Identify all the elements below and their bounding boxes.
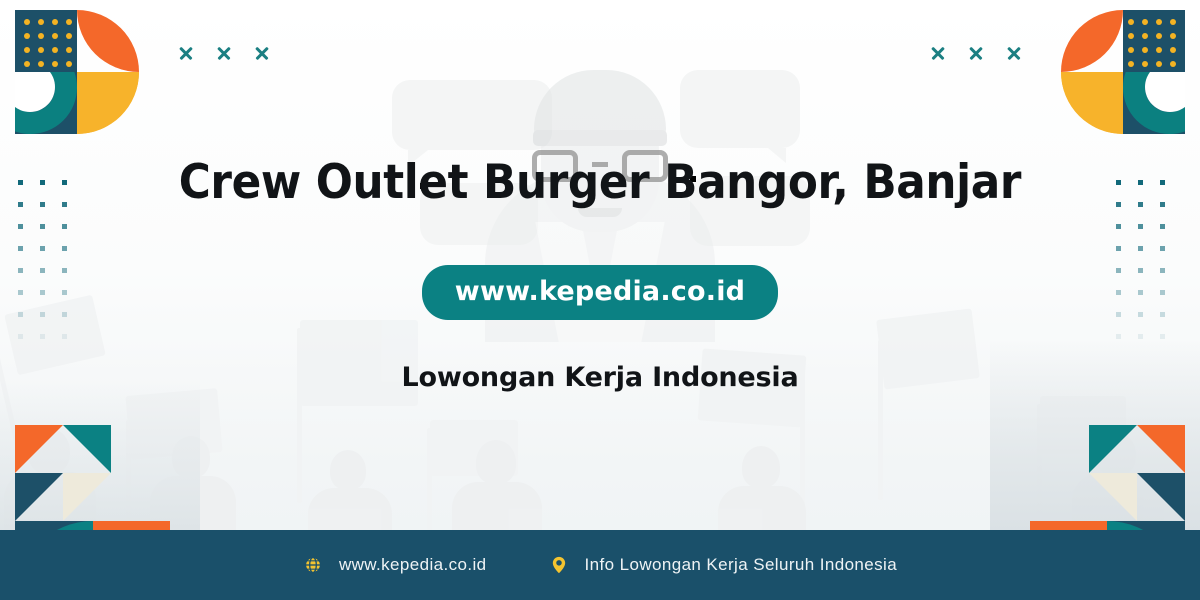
footer-website-label: www.kepedia.co.id (339, 555, 487, 575)
footer-website[interactable]: www.kepedia.co.id (303, 555, 487, 575)
website-badge[interactable]: www.kepedia.co.id (422, 265, 778, 320)
job-poster: Crew Outlet Burger Bangor, Banjar www.ke… (0, 0, 1200, 600)
page-title: Crew Outlet Burger Bangor, Banjar (179, 157, 1021, 209)
location-pin-icon (549, 555, 569, 575)
globe-icon (303, 555, 323, 575)
footer-info[interactable]: Info Lowongan Kerja Seluruh Indonesia (549, 555, 898, 575)
footer-bar: www.kepedia.co.id Info Lowongan Kerja Se… (0, 530, 1200, 600)
poster-content: Crew Outlet Burger Bangor, Banjar www.ke… (0, 0, 1200, 600)
footer-info-label: Info Lowongan Kerja Seluruh Indonesia (585, 555, 898, 575)
subtitle: Lowongan Kerja Indonesia (401, 362, 798, 393)
